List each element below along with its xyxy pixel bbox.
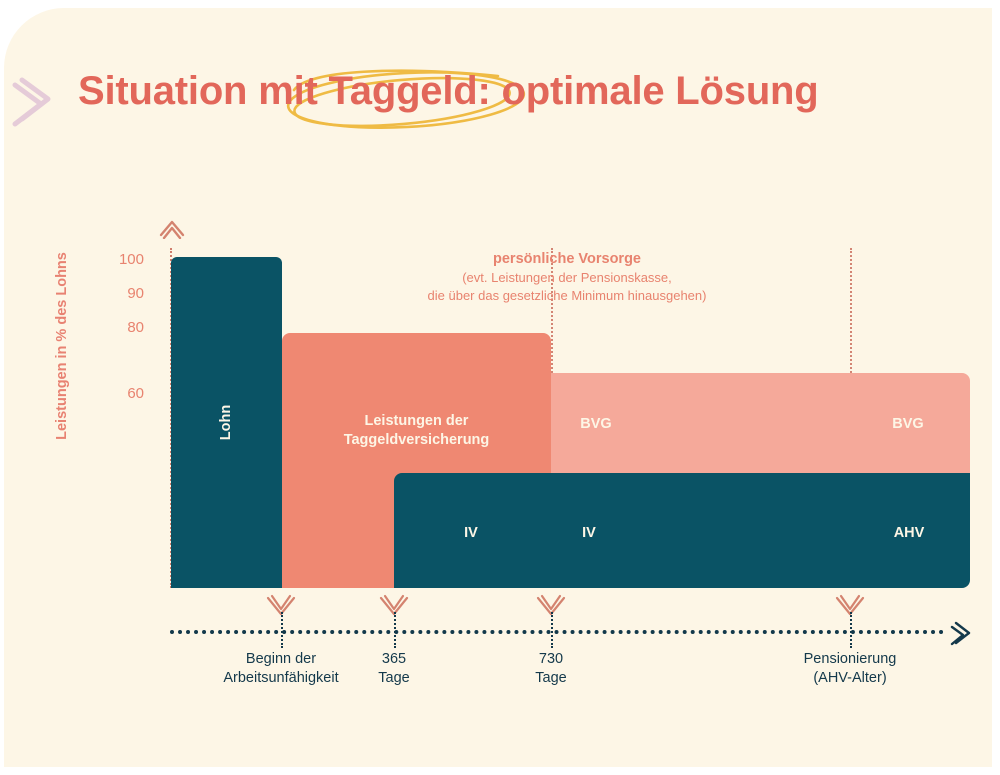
y-axis-tick-90: 90 (102, 285, 144, 302)
x-axis-label-2-line-2: Tage (378, 670, 409, 686)
x-axis-label-3: 730 Tage (441, 650, 661, 688)
annotation-persoenliche-vorsorge: persönliche Vorsorge (evt. Leistungen de… (384, 249, 750, 305)
x-axis-tick-1 (281, 612, 283, 648)
y-axis-label: Leistungen in % des Lohns (54, 216, 70, 476)
bar-label-lohn: Lohn (217, 405, 236, 440)
x-axis-label-4: Pensionierung (AHV-Alter) (740, 650, 960, 688)
y-axis-tick-80: 80 (102, 319, 144, 336)
bar-ahv (850, 473, 970, 588)
y-axis-tick-60: 60 (102, 385, 144, 402)
x-axis-label-3-line-2: Tage (535, 670, 566, 686)
x-axis-line (170, 630, 944, 634)
bar-label-line-2: Taggeldversicherung (344, 432, 490, 448)
infographic-card: Situation mit Taggeld: optimale Lösung L… (4, 8, 992, 767)
x-axis-label-3-line-1: 730 (539, 651, 563, 667)
bar-lohn: Lohn (171, 257, 282, 588)
x-axis-tick-4 (850, 612, 852, 648)
chevron-right-icon (950, 619, 976, 647)
bar-label-taggeldversicherung: Leistungen der Taggeldversicherung (344, 412, 490, 450)
x-axis-label-4-line-1: Pensionierung (804, 651, 897, 667)
y-axis-tick-100: 100 (102, 251, 144, 268)
bar-iv (394, 473, 850, 588)
annotation-line-2: die über das gesetzliche Minimum hinausg… (384, 287, 750, 305)
annotation-heading: persönliche Vorsorge (384, 249, 750, 269)
x-axis-tick-2 (394, 612, 396, 648)
chevron-up-icon (157, 217, 187, 239)
x-axis-label-2-line-1: 365 (382, 651, 406, 667)
bar-label-line-1: Leistungen der (365, 413, 469, 429)
bar-bvg (551, 373, 970, 473)
chart-area: Leistungen in % des Lohns 100 90 80 60 L… (4, 8, 1000, 775)
annotation-line-1: (evt. Leistungen der Pensionskasse, (384, 269, 750, 287)
x-axis-tick-3 (551, 612, 553, 648)
x-axis-label-4-line-2: (AHV-Alter) (813, 670, 886, 686)
y-axis-ticks: 100 90 80 60 (102, 8, 144, 608)
